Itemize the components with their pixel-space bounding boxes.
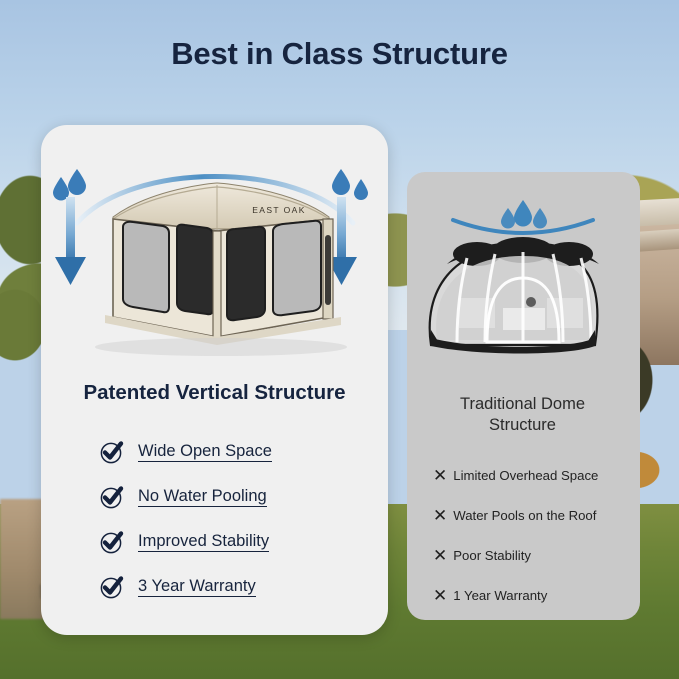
drawback-label: Poor Stability <box>453 548 531 563</box>
check-circle-icon <box>99 529 125 555</box>
check-circle-icon <box>99 439 125 465</box>
page-title: Best in Class Structure <box>0 36 679 72</box>
water-drop-icon <box>53 169 86 201</box>
dome-tent-illustration <box>407 180 640 380</box>
traditional-dome-heading: Traditional Dome Structure <box>415 394 630 436</box>
gazebo-illustration: EAST OAK <box>41 139 388 367</box>
check-circle-icon <box>99 574 125 600</box>
x-mark-icon: ✕ <box>433 547 447 564</box>
list-item: 3 Year Warranty <box>99 570 369 604</box>
x-mark-icon: ✕ <box>433 507 447 524</box>
feature-label: No Water Pooling <box>138 487 267 508</box>
list-item: ✕ Water Pools on the Roof <box>433 500 643 531</box>
patented-structure-card: EAST OAK Patented Vertical Structure Wid… <box>41 125 388 635</box>
x-mark-icon: ✕ <box>433 587 447 604</box>
drawback-list: ✕ Limited Overhead Space ✕ Water Pools o… <box>433 460 643 620</box>
water-drop-icon <box>501 200 547 229</box>
feature-label: 3 Year Warranty <box>138 577 256 598</box>
water-drop-icon <box>332 169 368 200</box>
down-arrow-icon <box>55 197 86 285</box>
infographic-canvas: Best in Class Structure <box>0 0 679 679</box>
check-circle-icon <box>99 484 125 510</box>
traditional-dome-card: Traditional Dome Structure ✕ Limited Ove… <box>407 172 640 620</box>
list-item: ✕ 1 Year Warranty <box>433 580 643 611</box>
list-item: ✕ Limited Overhead Space <box>433 460 643 491</box>
feature-list: Wide Open Space No Water Pooling <box>99 435 369 615</box>
list-item: ✕ Poor Stability <box>433 540 643 571</box>
drawback-label: Limited Overhead Space <box>453 468 598 483</box>
brand-label: EAST OAK <box>252 205 306 215</box>
patented-structure-heading: Patented Vertical Structure <box>41 381 388 405</box>
heading-line-1: Traditional Dome <box>415 394 630 415</box>
x-mark-icon: ✕ <box>433 467 447 484</box>
drawback-label: 1 Year Warranty <box>453 588 547 603</box>
gazebo-body: EAST OAK <box>95 183 347 356</box>
heading-line-2: Structure <box>415 415 630 436</box>
feature-label: Wide Open Space <box>138 442 272 463</box>
drawback-label: Water Pools on the Roof <box>453 508 596 523</box>
list-item: No Water Pooling <box>99 480 369 514</box>
dome-body <box>430 237 599 354</box>
list-item: Wide Open Space <box>99 435 369 469</box>
list-item: Improved Stability <box>99 525 369 559</box>
feature-label: Improved Stability <box>138 532 269 553</box>
